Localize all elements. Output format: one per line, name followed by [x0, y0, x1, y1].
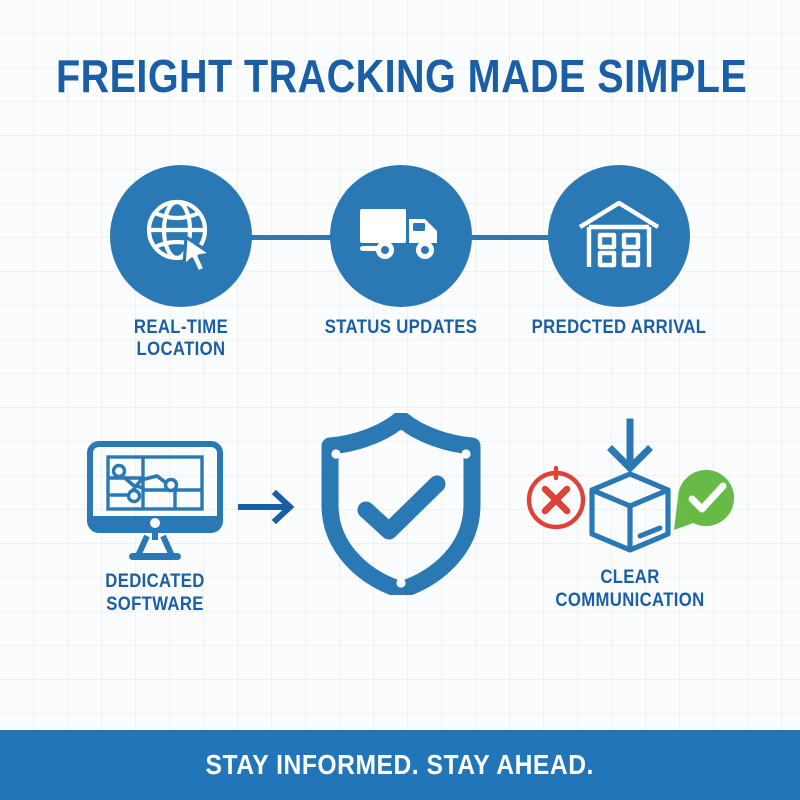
step-circle-1 [110, 165, 252, 307]
connector-line-2 [466, 235, 552, 240]
monitor-route-map-icon [85, 552, 225, 569]
flow-arrow [238, 490, 300, 524]
feature-label-comm-line2: COMMUNICATION [533, 589, 727, 612]
step-label-2: STATUS UPDATES [303, 317, 498, 339]
page-title: FREIGHT TRACKING MADE SIMPLE [56, 50, 744, 102]
step-label-1: REAL-TIME LOCATION [83, 317, 278, 361]
step-node-status-updates: STATUS UPDATES [330, 165, 472, 307]
feature-label-dedicated-software: DEDICATED SOFTWARE [54, 570, 256, 616]
feature-dedicated-software: DEDICATED SOFTWARE [85, 440, 225, 565]
globe-cursor-icon [139, 192, 223, 281]
step-label-3: PREDCTED ARRIVAL [521, 317, 716, 339]
circle-x-icon [529, 468, 583, 527]
speech-bubble-check-icon [674, 470, 734, 530]
shield-check-icon [320, 582, 482, 599]
arrow-right-icon [238, 511, 300, 528]
step-circle-2 [330, 165, 472, 307]
feature-label-clear-communication: CLEAR COMMUNICATION [533, 566, 727, 612]
step-label-1-line1: REAL-TIME [83, 317, 278, 339]
delivery-truck-icon [357, 201, 445, 272]
feature-shield-check [320, 413, 482, 595]
feature-label-software-line2: SOFTWARE [54, 593, 256, 616]
feature-clear-communication: CLEAR COMMUNICATION [520, 418, 740, 553]
package-box-download-icon [592, 422, 668, 550]
connector-line-1 [248, 235, 334, 240]
feature-label-comm-line1: CLEAR [533, 566, 727, 589]
step-node-real-time-location: REAL-TIME LOCATION [110, 165, 252, 307]
infographic-poster: FREIGHT TRACKING MADE SIMPLE REA [0, 0, 800, 800]
step-label-3-line1: PREDCTED ARRIVAL [521, 317, 716, 339]
footer-tagline: STAY INFORMED. STAY AHEAD. [206, 749, 594, 781]
step-circle-3 [548, 165, 690, 307]
warehouse-icon [576, 197, 662, 276]
step-node-predicted-arrival: PREDCTED ARRIVAL [548, 165, 690, 307]
footer-banner: STAY INFORMED. STAY AHEAD. [0, 730, 800, 800]
step-label-1-line2: LOCATION [83, 339, 278, 361]
step-label-2-line1: STATUS UPDATES [303, 317, 498, 339]
feature-label-software-line1: DEDICATED [54, 570, 256, 593]
